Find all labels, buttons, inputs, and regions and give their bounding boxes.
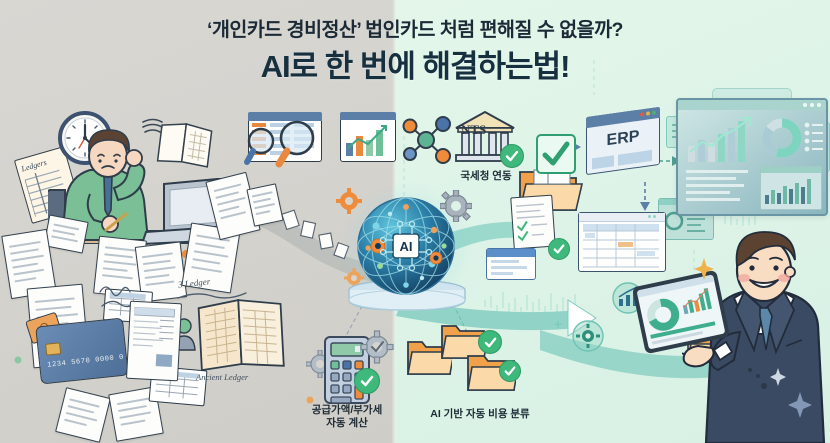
sparkle-icon bbox=[770, 368, 786, 386]
dashboard-text-rows bbox=[686, 170, 752, 204]
credit-card: 1234 5670 0000 0 bbox=[35, 318, 129, 385]
check-badge-icon bbox=[548, 238, 570, 260]
check-badge-icon bbox=[500, 144, 524, 168]
dashboard-donut bbox=[762, 118, 802, 158]
nts-badge-label: NTS bbox=[461, 122, 486, 138]
gear-icon bbox=[360, 330, 394, 364]
card-chip-icon bbox=[45, 342, 61, 356]
check-badge-icon bbox=[478, 330, 502, 354]
gear-circle-icon bbox=[572, 320, 604, 352]
plus-decor-icon: + bbox=[554, 316, 562, 332]
check-badge-icon bbox=[354, 368, 380, 394]
dashboard-legend bbox=[804, 122, 824, 156]
summary-card bbox=[486, 248, 536, 280]
bar-chart-window-icon bbox=[340, 112, 396, 162]
headline-block: ‘개인카드 경비정산’ 법인카드 처럼 편해질 수 없을까? AI로 한 번에 … bbox=[0, 16, 830, 88]
dashboard-secondary-panel bbox=[760, 166, 822, 210]
headline-line-2: AI로 한 번에 해결하는법! bbox=[0, 46, 830, 88]
ancient-ledger-note: Ancient Ledger bbox=[196, 372, 248, 382]
spreadsheet-window bbox=[578, 212, 666, 272]
molecule-node-icon bbox=[398, 112, 454, 168]
dashboard-main-bars bbox=[686, 116, 754, 164]
ai-chip-label: AI bbox=[400, 239, 413, 254]
search-icon bbox=[274, 118, 322, 170]
feature-caption-calc-line1: 공급가액/부가세 bbox=[292, 404, 402, 417]
spreadsheet-grid bbox=[583, 224, 661, 268]
erp-window: ERP bbox=[586, 107, 660, 175]
check-badge-icon bbox=[499, 360, 521, 382]
infographic-canvas: ‘개인카드 경비정산’ 법인카드 처럼 편해질 수 없을까? AI로 한 번에 … bbox=[0, 0, 830, 443]
ai-core-sphere: AI bbox=[356, 196, 456, 296]
chart-window-bars bbox=[345, 123, 391, 158]
check-icon bbox=[534, 132, 578, 176]
feature-caption-nts: 국세청 연동 bbox=[448, 170, 524, 183]
open-ledger-book bbox=[196, 294, 286, 372]
dashboard-secondary-bars bbox=[765, 177, 817, 205]
headline-line-1: ‘개인카드 경비정산’ 법인카드 처럼 편해질 수 없을까? bbox=[0, 16, 830, 44]
invoice-document bbox=[126, 301, 182, 382]
feature-caption-calc: 공급가액/부가세 자동 계산 bbox=[292, 404, 402, 430]
arrow-down-icon bbox=[638, 182, 652, 212]
analytics-dashboard-screen bbox=[676, 98, 828, 216]
sparkle-icon bbox=[694, 258, 714, 280]
feature-caption-classify: AI 기반 자동 비용 분류 bbox=[412, 408, 548, 421]
feature-caption-calc-line2: 자동 계산 bbox=[292, 417, 402, 430]
verified-document bbox=[510, 195, 556, 250]
sparkle-icon bbox=[788, 392, 812, 418]
